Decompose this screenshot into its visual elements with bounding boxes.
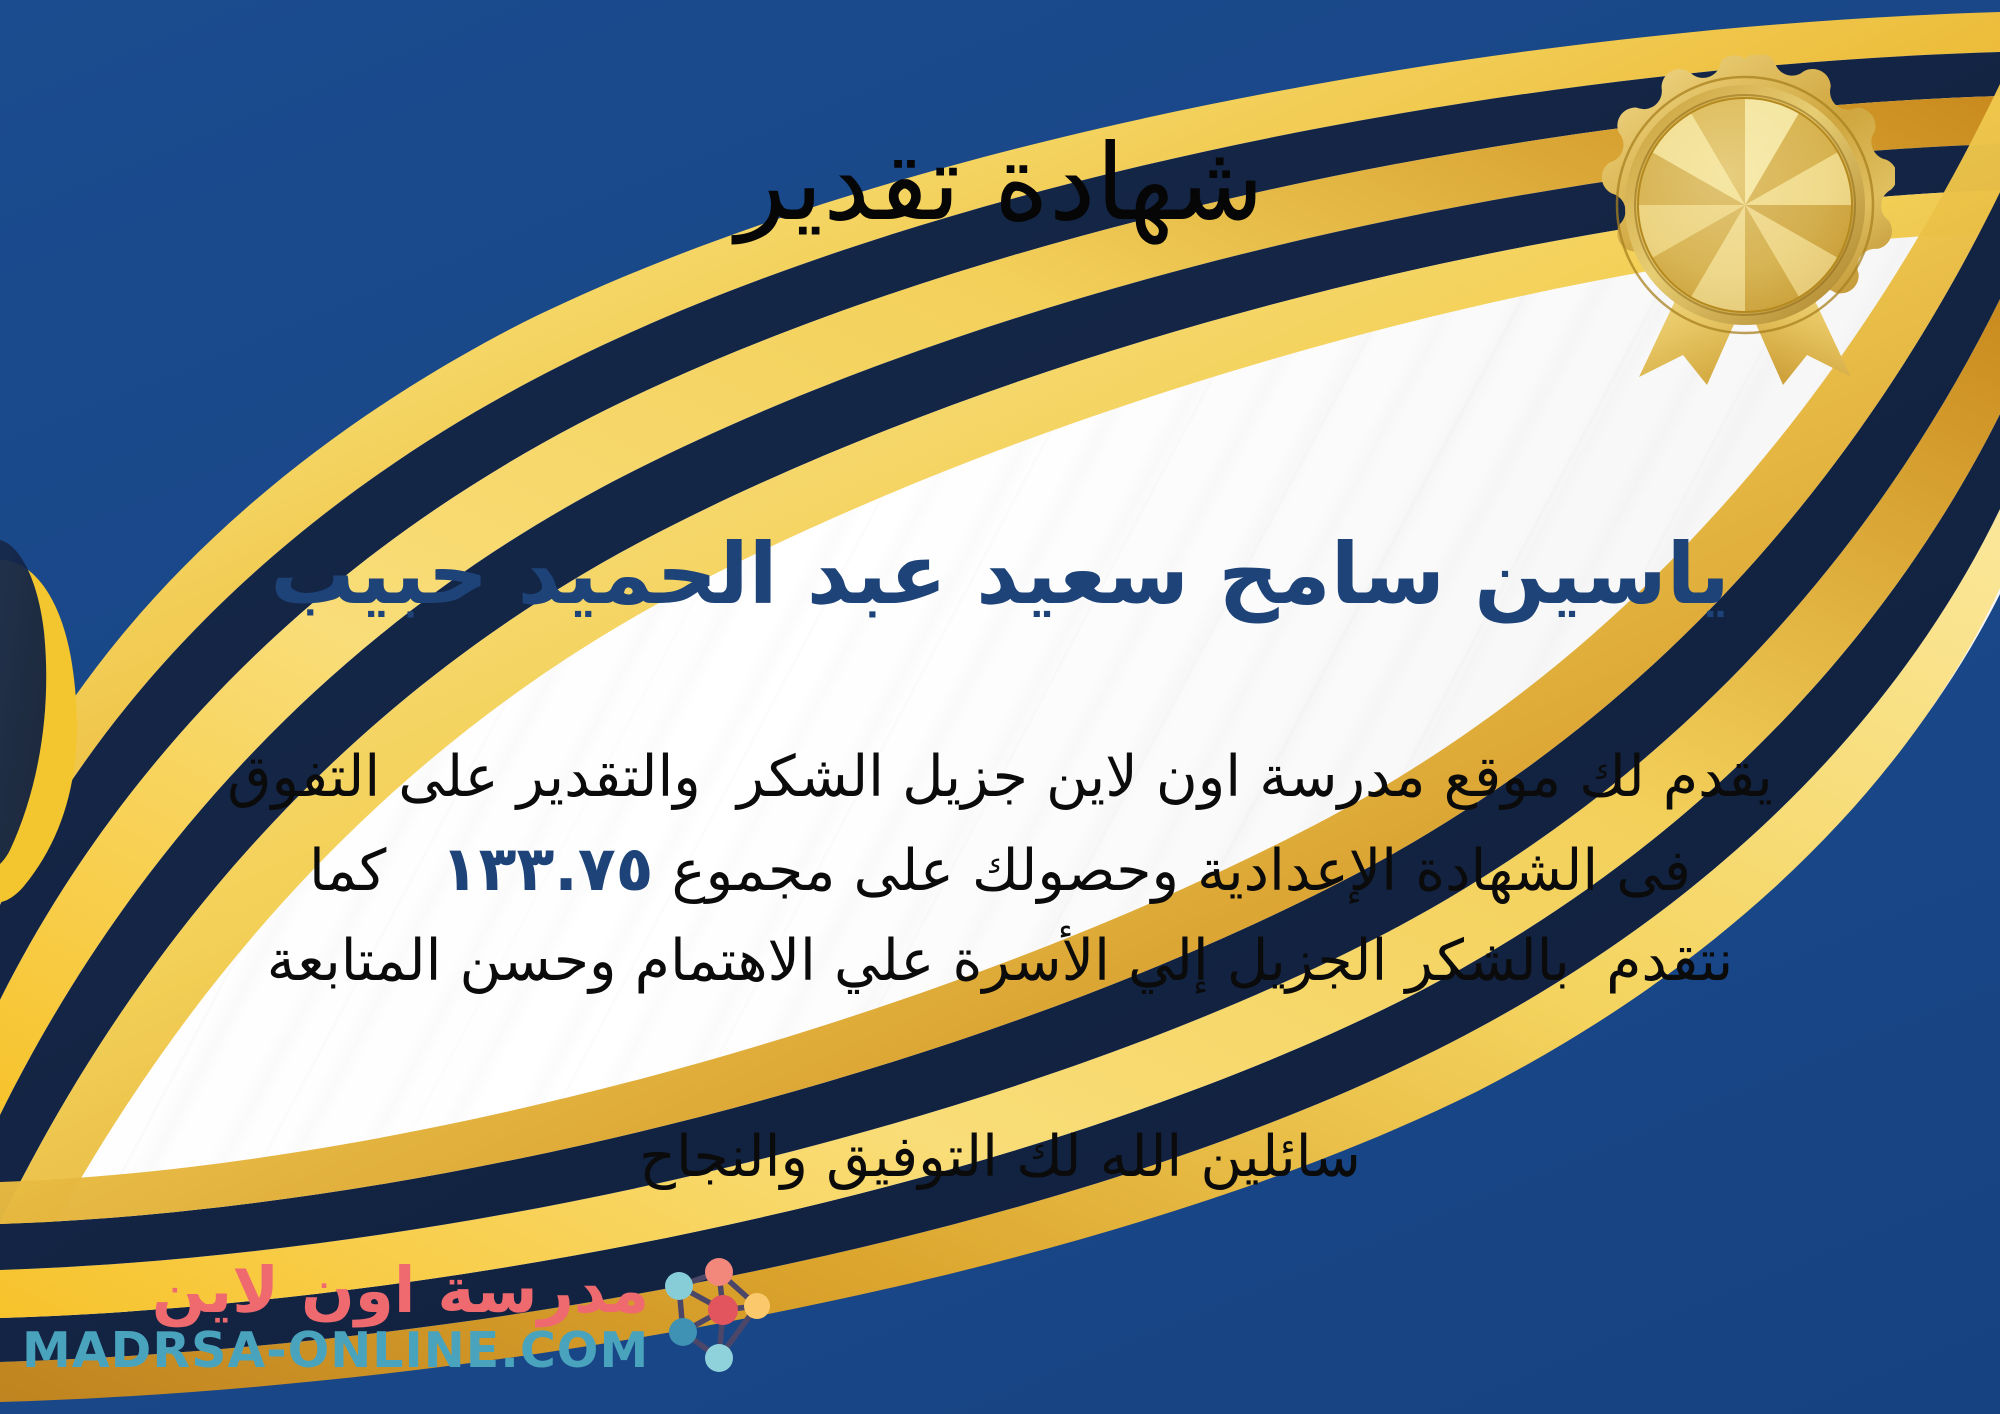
brand-logo-text: مدرسة اون لاين MADRSA-ONLINE.COM [22,1259,649,1375]
body-line-2-prefix: فى الشهادة الإعدادية وحصولك على مجموع [654,838,1692,904]
closing-line: سائلين الله لك التوفيق والنجاح [0,1115,2000,1201]
body-line-3: نتقدم بالشكر الجزيل إلي الأسرة علي الاهت… [0,917,2000,1005]
body-line-1: يقدم لك موقع مدرسة اون لاين جزيل الشكر و… [0,733,2000,821]
score-value: ١٣٣.٧٥ [441,832,654,905]
network-graph-icon [657,1258,775,1376]
body-line-2-suffix: كما [309,838,441,904]
certificate-body: يقدم لك موقع مدرسة اون لاين جزيل الشكر و… [0,733,2000,1006]
brand-logo[interactable]: مدرسة اون لاين MADRSA-ONLINE.COM [22,1242,582,1392]
certificate-canvas: شهادة تقدير ياسين سامح سعيد عبد الحميد ح… [0,0,2000,1414]
recipient-name: ياسين سامح سعيد عبد الحميد حبيب [0,520,2000,629]
body-line-2: فى الشهادة الإعدادية وحصولك على مجموع ١٣… [0,821,2000,917]
certificate-content: شهادة تقدير ياسين سامح سعيد عبد الحميد ح… [0,0,2000,1414]
brand-arabic-name: مدرسة اون لاين [152,1259,649,1322]
brand-domain: MADRSA-ONLINE.COM [22,1326,649,1375]
page-title: شهادة تقدير [0,118,2000,249]
